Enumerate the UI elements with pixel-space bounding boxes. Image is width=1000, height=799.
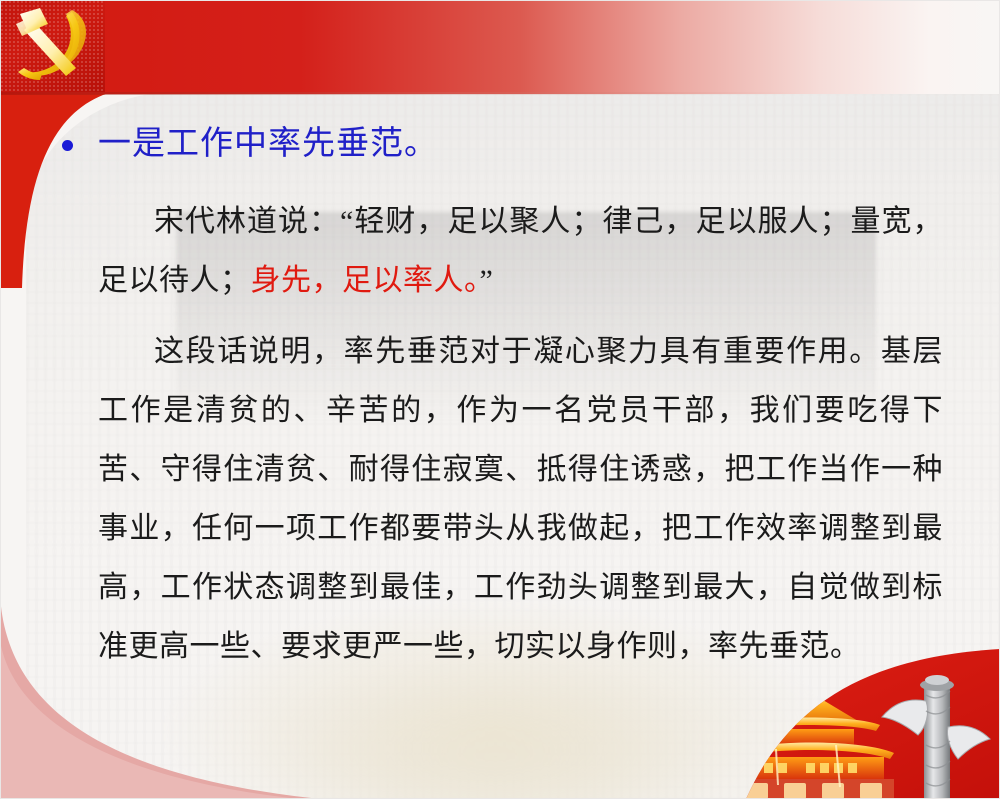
slide-canvas: 一是工作中率先垂范。 宋代林道说：“轻财，足以聚人；律己，足以服人；量宽，足以待… (0, 0, 1000, 799)
quote-run-1: 宋代林道说：“轻财，足以聚人；律己，足以服人；量宽，足以待人； (98, 205, 943, 297)
slide-title-row: 一是工作中率先垂范。 (56, 124, 936, 166)
commentary-paragraph: 这段话说明，率先垂范对于凝心聚力具有重要作用。基层工作是清贫的、辛苦的，作为一名… (98, 322, 943, 676)
body-text-area: 宋代林道说：“轻财，足以聚人；律己，足以服人；量宽，足以待人；身先，足以率人。”… (98, 192, 943, 676)
slide-title: 一是工作中率先垂范。 (98, 124, 438, 166)
quote-run-highlight: 身先，足以率人。 (251, 264, 480, 297)
party-emblem-badge (0, 0, 105, 92)
banner-bottom-edge-line (0, 92, 1000, 95)
bullet-point-icon (62, 140, 73, 151)
quote-run-3: ” (480, 264, 494, 297)
top-red-banner (0, 0, 1000, 94)
party-emblem-hammer-sickle-icon (6, 2, 98, 90)
quote-paragraph: 宋代林道说：“轻财，足以聚人；律己，足以服人；量宽，足以待人；身先，足以率人。” (98, 192, 943, 310)
